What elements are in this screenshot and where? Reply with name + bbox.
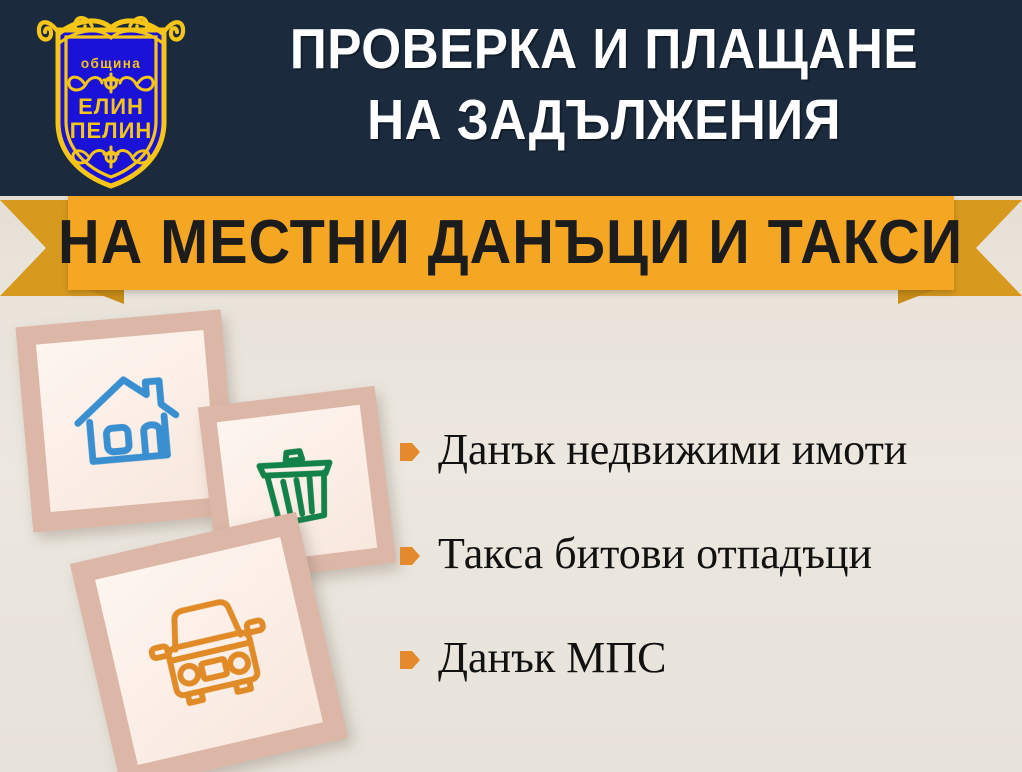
list-item[interactable]: Данък недвижими имоти bbox=[400, 424, 1022, 476]
page-title: ПРОВЕРКА И ПЛАЩАНЕ НА ЗАДЪЛЖЕНИЯ bbox=[228, 14, 980, 156]
list-item-label: Данък недвижими имоти bbox=[438, 427, 907, 473]
list-item[interactable]: Такса битови отпадъци bbox=[400, 528, 1022, 580]
municipality-crest-logo: община ЕЛИН ПЕЛИН bbox=[36, 4, 186, 192]
list-item-label: Данък МПС bbox=[438, 635, 666, 681]
crest-name-line2: ПЕЛИН bbox=[70, 118, 153, 143]
crest-name-line1: ЕЛИН bbox=[78, 94, 144, 119]
crest-municipality-word: община bbox=[81, 56, 141, 71]
arrow-bullet-icon bbox=[400, 545, 420, 567]
ribbon-subtitle: НА МЕСТНИ ДАНЪЦИ И ТАКСИ bbox=[59, 212, 964, 274]
ribbon-banner: НА МЕСТНИ ДАНЪЦИ И ТАКСИ bbox=[0, 196, 1022, 308]
poster-canvas: ПРОВЕРКА И ПЛАЩАНЕ НА ЗАДЪЛЖЕНИЯ община bbox=[0, 0, 1022, 772]
arrow-bullet-icon bbox=[400, 441, 420, 463]
list-item-label: Такса битови отпадъци bbox=[438, 531, 872, 577]
list-item[interactable]: Данък МПС bbox=[400, 632, 1022, 684]
tax-types-list: Данък недвижими имоти Такса битови отпад… bbox=[400, 424, 1022, 684]
arrow-bullet-icon bbox=[400, 649, 420, 671]
ribbon-main-panel: НА МЕСТНИ ДАНЪЦИ И ТАКСИ bbox=[68, 196, 954, 290]
